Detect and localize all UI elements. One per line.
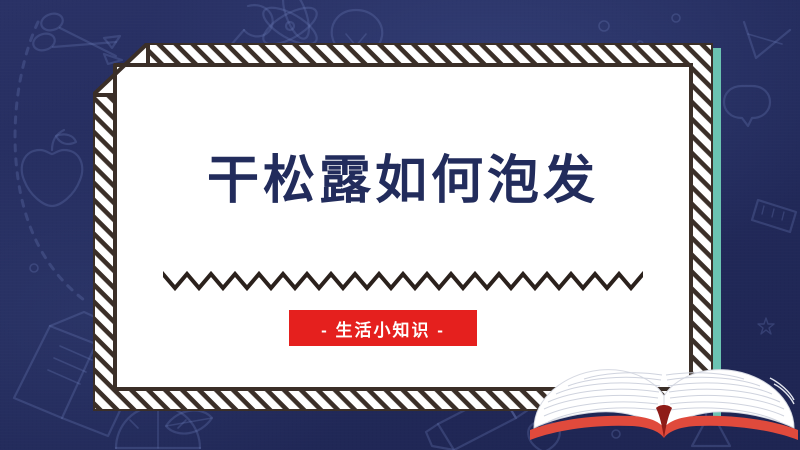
page-title: 干松露如何泡发 — [93, 153, 713, 210]
badge-label: - 生活小知识 - — [321, 316, 445, 341]
zigzag-divider — [163, 268, 643, 294]
leaf-doodle — [166, 410, 212, 433]
protractor-doodle — [116, 406, 200, 448]
star-doodle — [758, 318, 774, 334]
ruler-doodle — [752, 200, 796, 232]
status-badge: - 生活小知识 - — [289, 310, 477, 346]
speech-bubble-doodle — [724, 86, 770, 126]
compass-doodle — [744, 22, 790, 58]
apple-doodle — [22, 130, 83, 206]
card-content: 干松露如何泡发 - 生活小知识 - — [93, 43, 713, 411]
open-book-illustration — [528, 360, 800, 450]
dashed-path-doodle — [15, 22, 84, 300]
slide-canvas: 干松露如何泡发 - 生活小知识 - — [0, 0, 800, 450]
